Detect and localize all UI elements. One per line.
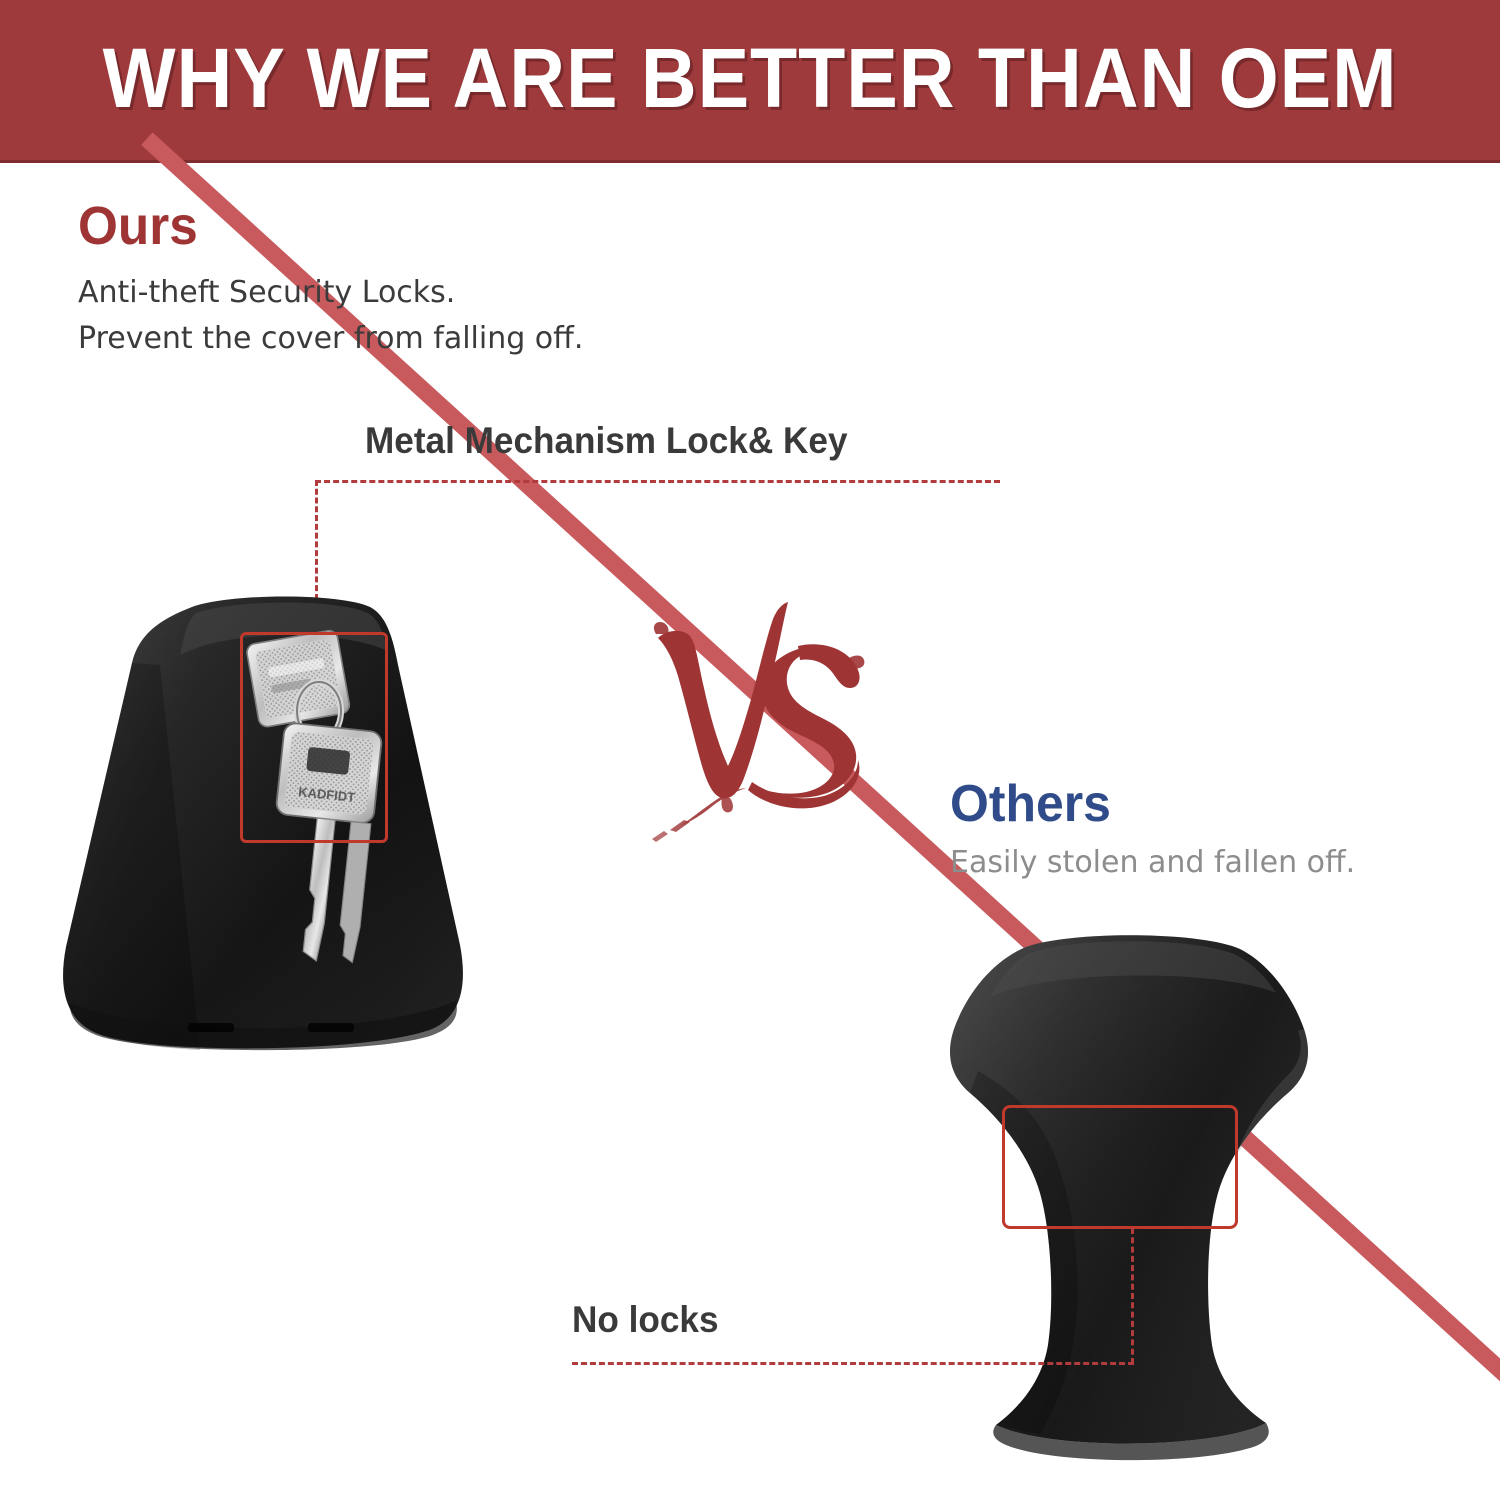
callout-label-metal-lock: Metal Mechanism Lock& Key xyxy=(365,418,847,464)
leader-line-horizontal-no-locks xyxy=(572,1362,1134,1365)
highlight-box-no-lock-area xyxy=(1002,1105,1238,1229)
leader-line-horizontal-metal xyxy=(315,480,1000,483)
ours-description-line-2: Prevent the cover from falling off. xyxy=(78,316,698,362)
ours-section: Ours Anti-theft Security Locks. Prevent … xyxy=(78,196,698,362)
infographic-page: WHY WE ARE BETTER THAN OEM Ours Anti-the… xyxy=(0,0,1500,1500)
header-banner: WHY WE ARE BETTER THAN OEM xyxy=(0,0,1500,163)
others-heading: Others xyxy=(950,775,1488,833)
callout-label-no-locks: No locks xyxy=(572,1297,719,1343)
leader-line-vertical-no-locks xyxy=(1131,1228,1134,1364)
vs-brush-graphic xyxy=(648,600,908,880)
ours-description-line-1: Anti-theft Security Locks. xyxy=(78,270,698,316)
highlight-box-lock-area xyxy=(240,632,388,843)
ours-heading: Ours xyxy=(78,196,667,256)
page-title: WHY WE ARE BETTER THAN OEM xyxy=(60,26,1440,130)
others-description-line-1: Easily stolen and fallen off. xyxy=(950,843,1500,883)
others-section: Others Easily stolen and fallen off. xyxy=(950,775,1500,883)
